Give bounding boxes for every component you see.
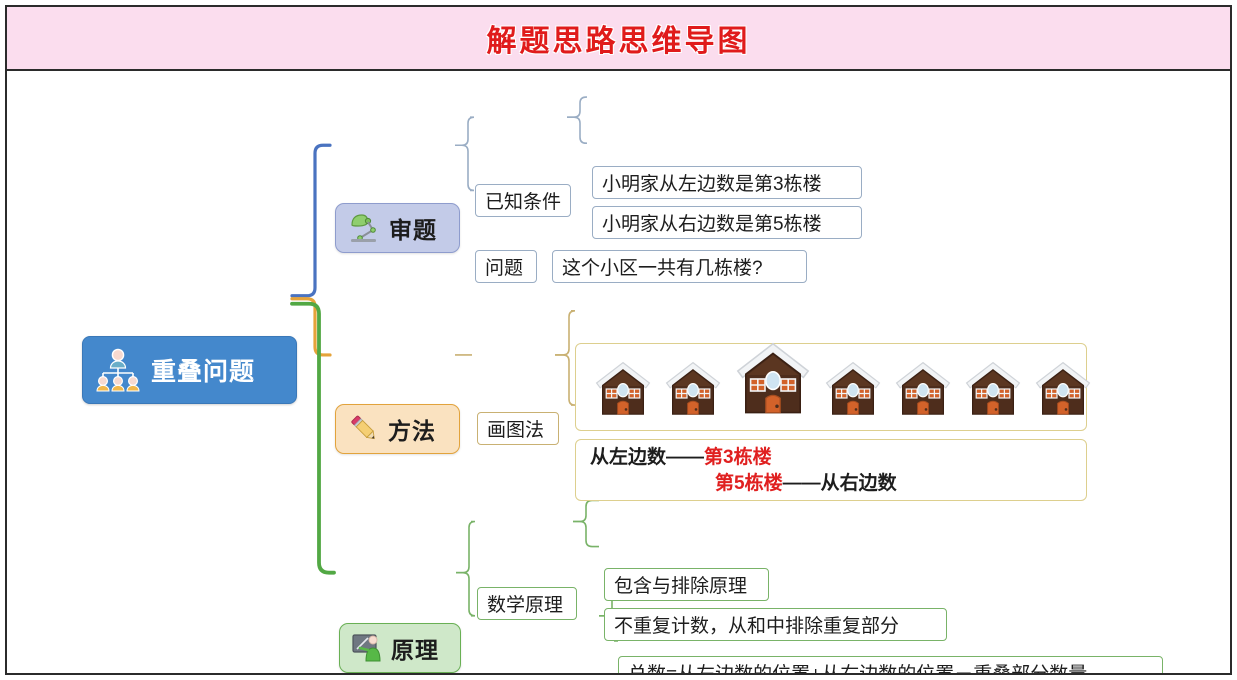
sub-node-question[interactable]: 问题 <box>475 250 537 283</box>
branch-node-yuanli[interactable]: 原理 <box>339 623 461 673</box>
page-header: 解题思路思维导图 <box>5 5 1232 71</box>
mindmap-page: 解题思路思维导图 <box>0 0 1237 680</box>
houses-illustration-panel <box>575 343 1087 431</box>
note-line-1: 从左边数——第3栋楼 <box>590 445 1086 471</box>
branch-node-shenti[interactable]: 审题 <box>335 203 460 253</box>
page-title: 解题思路思维导图 <box>487 16 751 60</box>
mindmap-canvas: 重叠问题 审题 已知条件 小明家从左边数是第3栋楼 小明家从右边数是第5栋楼 问… <box>5 71 1232 675</box>
note-line-2-black: ——从右边数 <box>783 473 897 494</box>
note-line-2-red: 第5栋楼 <box>715 473 783 494</box>
branch-node-fangfa[interactable]: 方法 <box>335 404 460 454</box>
leaf-node-principle-2[interactable]: 不重复计数，从和中排除重复部分 <box>604 608 947 641</box>
org-chart-people-icon <box>95 348 141 392</box>
house-icon <box>822 359 884 424</box>
leaf-node-question-text[interactable]: 这个小区一共有几栋楼? <box>552 250 807 283</box>
house-icon <box>592 359 654 424</box>
leaf-node-relation-formula[interactable]: 总数=从左边数的位置+从右边数的位置－重叠部分数量 <box>618 656 1163 675</box>
desk-lamp-icon <box>348 212 382 244</box>
branch-label-yuanli: 原理 <box>391 631 439 665</box>
note-line-1-red: 第3栋楼 <box>704 447 772 468</box>
root-label: 重叠问题 <box>151 352 255 388</box>
sub-node-drawing-method[interactable]: 画图法 <box>477 412 559 445</box>
root-node[interactable]: 重叠问题 <box>82 336 297 404</box>
note-line-1-black: 从左边数—— <box>590 447 704 468</box>
teacher-blackboard-icon <box>352 633 384 663</box>
house-icon-highlighted <box>732 339 814 424</box>
pencil-icon <box>348 413 381 445</box>
drawing-note-panel: 从左边数——第3栋楼 第5栋楼——从右边数 <box>575 439 1087 501</box>
note-line-2: 第5栋楼——从右边数 <box>590 471 1086 497</box>
house-icon <box>962 359 1024 424</box>
branch-label-fangfa: 方法 <box>388 412 436 446</box>
leaf-node-condition-1[interactable]: 小明家从左边数是第3栋楼 <box>592 166 862 199</box>
sub-node-known-conditions[interactable]: 已知条件 <box>475 184 571 217</box>
leaf-node-principle-1[interactable]: 包含与排除原理 <box>604 568 769 601</box>
house-icon <box>1032 359 1094 424</box>
house-icon <box>662 359 724 424</box>
house-icon <box>892 359 954 424</box>
sub-node-math-principle[interactable]: 数学原理 <box>477 587 577 620</box>
branch-label-shenti: 审题 <box>389 211 437 245</box>
leaf-node-condition-2[interactable]: 小明家从右边数是第5栋楼 <box>592 206 862 239</box>
